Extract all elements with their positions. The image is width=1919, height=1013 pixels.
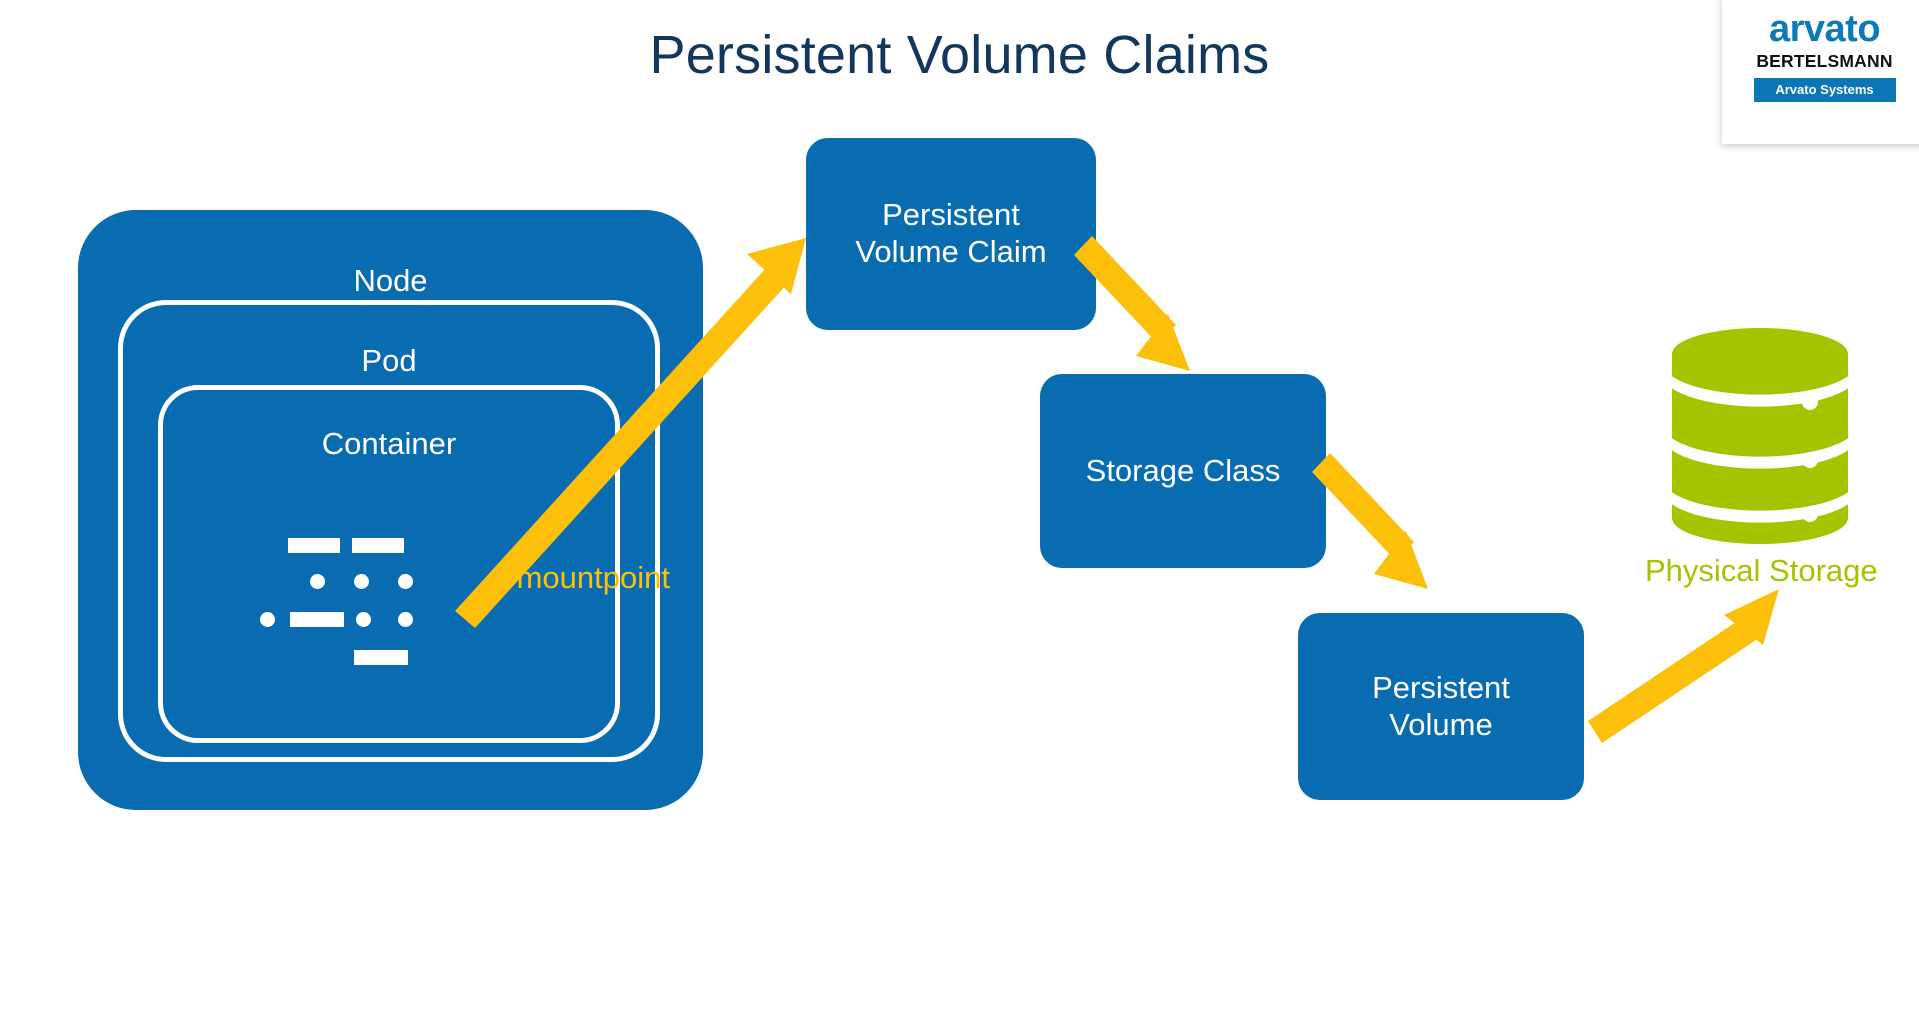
container-label: Container (163, 428, 615, 459)
logo-parent-brand: BERTELSMANN (1756, 53, 1892, 71)
logo-wordmark: arvato (1769, 10, 1880, 48)
pod-label: Pod (123, 345, 655, 376)
container-data-glyph (258, 538, 382, 634)
pv-box-label: Persistent Volume (1372, 670, 1510, 743)
pv-to-physical-storage-arrow (1588, 589, 1779, 743)
storage-class-box[interactable]: Storage Class (1040, 374, 1326, 568)
physical-storage-label: Physical Storage (1645, 555, 1878, 586)
pv-label-line1: Persistent (1372, 670, 1510, 707)
mountpoint-label: /mountpoint (508, 562, 670, 593)
storage-class-to-pv-arrow (1312, 453, 1428, 589)
persistent-volume-claim-box[interactable]: Persistent Volume Claim (806, 138, 1096, 330)
page-title: Persistent Volume Claims (0, 26, 1919, 85)
pvc-label-line2: Volume Claim (855, 234, 1046, 271)
logo-division-bar: Arvato Systems (1754, 78, 1896, 102)
pv-label-line2: Volume (1372, 707, 1510, 744)
storage-class-box-label: Storage Class (1086, 453, 1281, 490)
node-label: Node (78, 265, 703, 296)
database-cylinder-icon (1672, 328, 1848, 544)
slide-canvas: Persistent Volume Claims arvato BERTELSM… (0, 0, 1919, 1013)
persistent-volume-box[interactable]: Persistent Volume (1298, 613, 1584, 800)
pvc-label-line1: Persistent (855, 197, 1046, 234)
pvc-box-label: Persistent Volume Claim (855, 197, 1046, 270)
arvato-logo: arvato BERTELSMANN Arvato Systems (1722, 0, 1919, 144)
